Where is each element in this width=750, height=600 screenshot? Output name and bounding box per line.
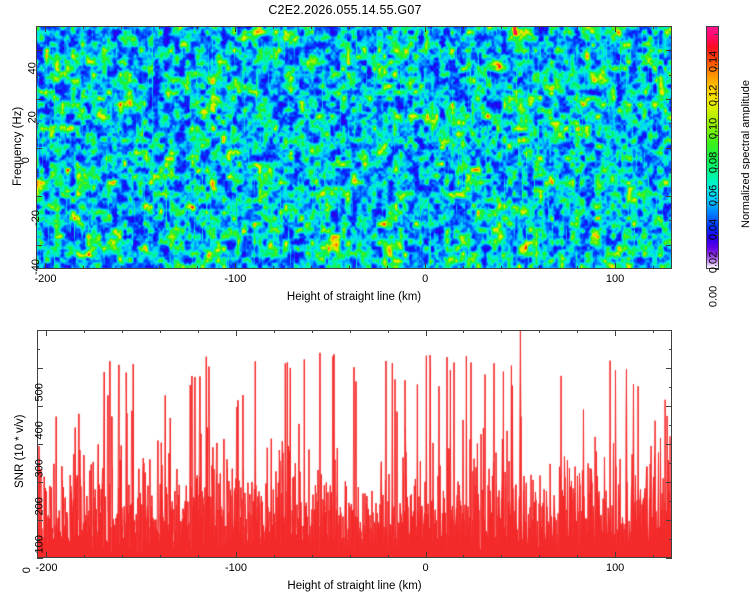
snr-y-tick	[37, 558, 43, 559]
snr-y-minor-tick-right	[669, 349, 672, 350]
spectrogram-x-tick	[615, 263, 616, 269]
snr-y-minor-tick	[37, 463, 40, 464]
spectrogram-x-minor-tick	[159, 266, 160, 269]
snr-y-tick-label: 400	[33, 421, 45, 439]
spectrogram-y-tick-right	[666, 148, 672, 149]
spectrogram-x-minor-tick	[273, 266, 274, 269]
snr-y-tick	[37, 482, 43, 483]
snr-x-minor-tick-top	[122, 330, 123, 333]
spectrogram-y-tick	[36, 196, 42, 197]
spectrogram-x-minor-tick	[197, 266, 198, 269]
spectrogram-x-minor-tick	[83, 266, 84, 269]
snr-y-minor-tick	[37, 425, 40, 426]
spectrogram-x-minor-tick-top	[83, 26, 84, 29]
colorbar-tick-label: 0.04	[707, 219, 719, 240]
snr-y-tick-right	[666, 444, 672, 445]
spectrogram-x-tick-top	[235, 26, 236, 32]
snr-y-minor-tick-right	[669, 463, 672, 464]
snr-x-tick-top	[615, 330, 616, 336]
spectrogram-x-tick-top	[615, 26, 616, 32]
snr-x-minor-tick-top	[463, 330, 464, 333]
spectrogram-x-minor-tick	[653, 266, 654, 269]
snr-y-tick	[37, 520, 43, 521]
spectrogram-y-minor-tick	[36, 172, 39, 173]
snr-y-tick-right	[666, 558, 672, 559]
snr-y-tick-right	[666, 520, 672, 521]
page-title: C2E2.2026.055.14.55.G07	[0, 3, 690, 17]
spectrogram-y-tick-label: -20	[30, 210, 42, 226]
snr-x-minor-tick-top	[160, 330, 161, 333]
snr-y-minor-tick-right	[669, 539, 672, 540]
snr-x-minor-tick-top	[84, 330, 85, 333]
snr-x-minor-tick-top	[653, 330, 654, 333]
snr-y-tick	[37, 444, 43, 445]
snr-y-minor-tick	[37, 387, 40, 388]
colorbar-axis-title: Normalized spectral amplitude	[740, 80, 750, 228]
spectrogram-y-tick	[36, 50, 42, 51]
snr-y-tick	[37, 406, 43, 407]
snr-x-tick-label: 0	[423, 562, 429, 574]
snr-y-tick-label: 100	[33, 535, 45, 553]
snr-x-tick-top	[236, 330, 237, 336]
spectrogram-y-tick	[36, 148, 42, 149]
snr-x-tick	[46, 552, 47, 558]
spectrogram-y-axis-title: Frequency (Hz)	[12, 106, 24, 185]
snr-x-minor-tick-top	[312, 330, 313, 333]
snr-x-minor-tick	[577, 555, 578, 558]
snr-x-minor-tick	[501, 555, 502, 558]
snr-x-tick-label: -100	[225, 562, 247, 574]
spectrogram-x-tick-label: 100	[606, 273, 624, 285]
colorbar-tick-label: 0.02	[707, 252, 719, 273]
spectrogram-x-minor-tick	[311, 266, 312, 269]
snr-x-minor-tick	[388, 555, 389, 558]
spectrogram-y-minor-tick-right	[669, 172, 672, 173]
spectrogram-x-minor-tick	[121, 266, 122, 269]
spectrogram-x-minor-tick-top	[463, 26, 464, 29]
snr-x-minor-tick	[274, 555, 275, 558]
spectrogram-x-minor-tick-top	[197, 26, 198, 29]
snr-x-minor-tick	[653, 555, 654, 558]
snr-y-minor-tick-right	[669, 387, 672, 388]
snr-x-minor-tick-top	[577, 330, 578, 333]
spectrogram-x-minor-tick	[387, 266, 388, 269]
snr-x-tick-top	[46, 330, 47, 336]
snr-y-minor-tick	[37, 501, 40, 502]
snr-x-tick	[236, 552, 237, 558]
spectrogram-panel	[36, 26, 672, 269]
spectrogram-x-tick-label: -100	[224, 273, 246, 285]
snr-y-minor-tick	[37, 349, 40, 350]
spectrogram-y-tick-label: 40	[26, 62, 38, 74]
spectrogram-x-minor-tick-top	[539, 26, 540, 29]
spectrogram-y-minor-tick	[36, 123, 39, 124]
snr-y-tick	[37, 368, 43, 369]
spectrogram-frame	[36, 26, 672, 269]
spectrogram-x-tick	[425, 263, 426, 269]
snr-x-minor-tick-top	[274, 330, 275, 333]
spectrogram-y-tick-label: 20	[26, 111, 38, 123]
spectrogram-y-minor-tick-right	[669, 220, 672, 221]
snr-y-tick-right	[666, 482, 672, 483]
spectrogram-y-tick-right	[666, 50, 672, 51]
spectrogram-x-minor-tick	[349, 266, 350, 269]
colorbar-tick-label: 0.10	[707, 118, 719, 139]
snr-y-minor-tick	[37, 539, 40, 540]
colorbar-tick	[715, 34, 719, 35]
spectrogram-x-minor-tick	[577, 266, 578, 269]
spectrogram-y-minor-tick-right	[669, 123, 672, 124]
spectrogram-y-minor-tick-right	[669, 75, 672, 76]
snr-y-tick-label: 0	[21, 567, 33, 573]
snr-y-minor-tick-right	[669, 425, 672, 426]
snr-x-minor-tick	[463, 555, 464, 558]
spectrogram-y-tick-right	[666, 99, 672, 100]
colorbar-tick-label: 0.06	[707, 185, 719, 206]
spectrogram-y-tick-right	[666, 245, 672, 246]
snr-x-axis-title: Height of straight line (km)	[287, 580, 421, 592]
snr-x-minor-tick-top	[388, 330, 389, 333]
spectrogram-x-minor-tick-top	[577, 26, 578, 29]
snr-x-minor-tick-top	[539, 330, 540, 333]
snr-x-minor-tick-top	[350, 330, 351, 333]
spectrogram-y-tick-label: -40	[30, 259, 42, 275]
snr-y-tick-label: 200	[33, 497, 45, 515]
spectrogram-x-tick	[45, 263, 46, 269]
colorbar-tick-label: 0.14	[707, 51, 719, 72]
snr-y-tick-right	[666, 406, 672, 407]
snr-x-minor-tick	[539, 555, 540, 558]
colorbar-tick-label: 0.08	[707, 152, 719, 173]
colorbar-tick-label: 0.12	[707, 85, 719, 106]
spectrogram-x-tick-top	[425, 26, 426, 32]
figure-canvas: C2E2.2026.055.14.55.G07 -200-1000100-40-…	[0, 0, 750, 600]
colorbar-tick-label: 0.00	[707, 286, 719, 307]
spectrogram-x-minor-tick-top	[311, 26, 312, 29]
snr-x-minor-tick	[122, 555, 123, 558]
snr-y-tick-label: 500	[33, 383, 45, 401]
spectrogram-y-tick	[36, 245, 42, 246]
spectrogram-x-minor-tick-top	[159, 26, 160, 29]
spectrogram-x-axis-title: Height of straight line (km)	[287, 291, 421, 303]
snr-y-minor-tick-right	[669, 501, 672, 502]
spectrogram-x-minor-tick	[501, 266, 502, 269]
snr-panel	[37, 330, 672, 558]
spectrogram-x-minor-tick-top	[121, 26, 122, 29]
spectrogram-y-tick-right	[666, 196, 672, 197]
snr-x-tick	[426, 552, 427, 558]
spectrogram-x-minor-tick-top	[653, 26, 654, 29]
spectrogram-y-tick	[36, 99, 42, 100]
spectrogram-x-minor-tick-top	[501, 26, 502, 29]
spectrogram-x-tick-label: 0	[422, 273, 428, 285]
spectrogram-x-minor-tick-top	[273, 26, 274, 29]
snr-x-minor-tick	[350, 555, 351, 558]
snr-x-minor-tick-top	[198, 330, 199, 333]
snr-y-tick-label: 300	[33, 459, 45, 477]
snr-x-minor-tick	[312, 555, 313, 558]
snr-x-tick-label: 100	[606, 562, 624, 574]
snr-x-minor-tick	[198, 555, 199, 558]
snr-x-tick-top	[426, 330, 427, 336]
spectrogram-x-tick	[235, 263, 236, 269]
snr-y-tick-right	[666, 368, 672, 369]
snr-x-tick	[615, 552, 616, 558]
snr-y-minor-tick	[37, 330, 40, 331]
snr-x-minor-tick	[160, 555, 161, 558]
snr-y-axis-title: SNR (10 * v/v)	[14, 415, 26, 489]
snr-x-minor-tick	[84, 555, 85, 558]
spectrogram-x-tick-top	[45, 26, 46, 32]
spectrogram-x-minor-tick-top	[349, 26, 350, 29]
spectrogram-y-minor-tick	[36, 75, 39, 76]
snr-x-tick-label: -200	[35, 562, 57, 574]
spectrogram-x-minor-tick-top	[387, 26, 388, 29]
snr-y-minor-tick-right	[669, 330, 672, 331]
spectrogram-y-minor-tick	[36, 220, 39, 221]
snr-frame	[37, 330, 672, 558]
spectrogram-x-minor-tick	[463, 266, 464, 269]
spectrogram-x-minor-tick	[539, 266, 540, 269]
snr-x-minor-tick-top	[501, 330, 502, 333]
